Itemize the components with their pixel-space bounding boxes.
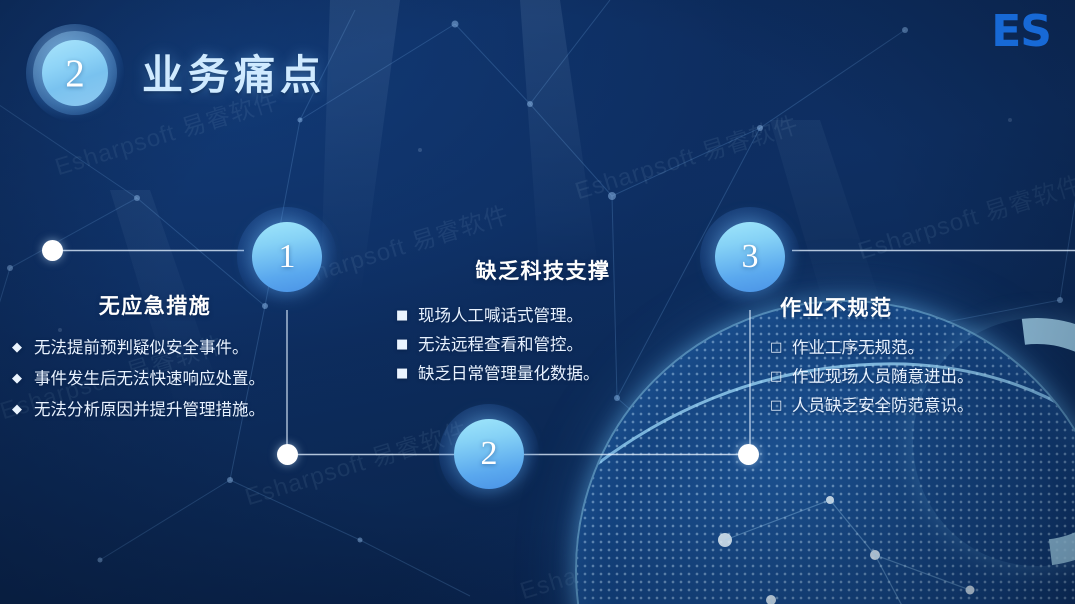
column-3-title: 作业不规范	[758, 292, 1058, 322]
node-3-core: 3	[715, 222, 785, 292]
list-item-text: 无法提前预判疑似安全事件。	[34, 332, 270, 363]
diamond-bullet-icon: ◆	[12, 394, 34, 425]
es-logo: ES	[991, 6, 1051, 57]
connector-dot-left	[42, 240, 63, 261]
watermark-text: Esharpsoft 易睿软件	[515, 505, 747, 604]
list-item-text: 作业工序无规范。	[792, 333, 1058, 362]
list-item: ◆ 无法分析原因并提升管理措施。	[12, 394, 270, 425]
node-2-label: 2	[481, 437, 498, 471]
list-item: ◆ 事件发生后无法快速响应处置。	[12, 363, 270, 394]
list-item-text: 缺乏日常管理量化数据。	[418, 359, 690, 388]
list-item: ■ 缺乏日常管理量化数据。	[396, 359, 690, 388]
column-1-bullet-list: ◆ 无法提前预判疑似安全事件。 ◆ 事件发生后无法快速响应处置。 ◆ 无法分析原…	[12, 332, 270, 425]
slide-header: 2 业务痛点 ES	[0, 0, 1075, 140]
list-item: □ 作业现场人员随意进出。	[770, 362, 1058, 391]
column-2-title: 缺乏科技支撑	[390, 255, 690, 285]
connector-dot-bottom-left	[277, 444, 298, 465]
column-2-bullet-list: ■ 现场人工喊话式管理。 ■ 无法远程查看和管控。 ■ 缺乏日常管理量化数据。	[390, 301, 690, 388]
content-column-1: 无应急措施 ◆ 无法提前预判疑似安全事件。 ◆ 事件发生后无法快速响应处置。 ◆…	[12, 290, 270, 425]
watermark-text: Esharpsoft 易睿软件	[853, 165, 1075, 266]
step-node-2[interactable]: 2	[439, 404, 539, 504]
badge-core: 2	[42, 40, 108, 106]
node-2-core: 2	[454, 419, 524, 489]
list-item-text: 事件发生后无法快速响应处置。	[34, 363, 270, 394]
hollow-square-bullet-icon: □	[770, 333, 792, 362]
column-3-bullet-list: □ 作业工序无规范。 □ 作业现场人员随意进出。 □ 人员缺乏安全防范意识。	[758, 333, 1058, 420]
content-column-2: 缺乏科技支撑 ■ 现场人工喊话式管理。 ■ 无法远程查看和管控。 ■ 缺乏日常管…	[390, 255, 690, 388]
list-item-text: 作业现场人员随意进出。	[792, 362, 1058, 391]
list-item: ◆ 无法提前预判疑似安全事件。	[12, 332, 270, 363]
watermark-text: Esharpsoft 易睿软件	[240, 411, 472, 512]
section-number-badge: 2	[26, 24, 124, 122]
hollow-square-bullet-icon: □	[770, 391, 792, 420]
list-item-text: 无法分析原因并提升管理措施。	[34, 394, 270, 425]
list-item: ■ 无法远程查看和管控。	[396, 330, 690, 359]
list-item-text: 人员缺乏安全防范意识。	[792, 391, 1058, 420]
list-item: □ 人员缺乏安全防范意识。	[770, 391, 1058, 420]
node-1-label: 1	[279, 240, 296, 274]
node-3-label: 3	[742, 240, 759, 274]
list-item-text: 现场人工喊话式管理。	[418, 301, 690, 330]
diamond-bullet-icon: ◆	[12, 332, 34, 363]
square-bullet-icon: ■	[396, 359, 418, 388]
list-item-text: 无法远程查看和管控。	[418, 330, 690, 359]
square-bullet-icon: ■	[396, 330, 418, 359]
hollow-square-bullet-icon: □	[770, 362, 792, 391]
square-bullet-icon: ■	[396, 301, 418, 330]
diamond-bullet-icon: ◆	[12, 363, 34, 394]
list-item: □ 作业工序无规范。	[770, 333, 1058, 362]
column-1-title: 无应急措施	[12, 290, 270, 320]
content-column-3: 作业不规范 □ 作业工序无规范。 □ 作业现场人员随意进出。 □ 人员缺乏安全防…	[758, 292, 1058, 420]
node-1-core: 1	[252, 222, 322, 292]
section-number-text: 2	[65, 54, 85, 93]
list-item: ■ 现场人工喊话式管理。	[396, 301, 690, 330]
page-title: 业务痛点	[142, 41, 326, 101]
connector-dot-bottom-right	[738, 444, 759, 465]
slide-canvas: Esharpsoft 易睿软件Esharpsoft 易睿软件Esharpsoft…	[0, 0, 1075, 604]
